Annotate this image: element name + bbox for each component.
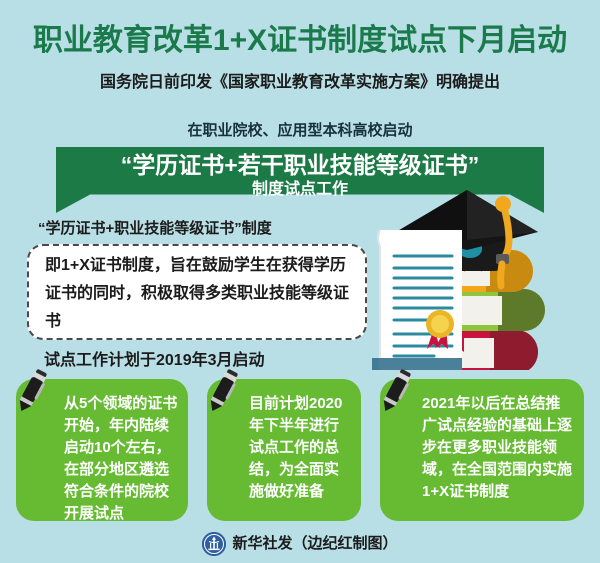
- list-item[interactable]: 2021年以后在总结推广试点经验的基础上逐步在更多职业技能领域，在全国范围内实施…: [380, 379, 584, 521]
- list-item[interactable]: 从5个领域的证书开始，年内陆续启动10个左右，在部分地区遴选符合条件的院校开展试…: [16, 379, 188, 521]
- definition-text: 即1+X证书制度，旨在鼓励学生在获得学历证书的同时，积极取得多类职业技能等级证书: [45, 252, 355, 336]
- education-illustration: [372, 188, 600, 370]
- footer: 新华社发（边纪红制图）: [0, 532, 600, 556]
- footer-credit: 新华社发（边纪红制图）: [232, 533, 397, 555]
- definition-label: “学历证书+职业技能等级证书”制度: [38, 219, 272, 239]
- list-item-text: 2021年以后在总结推广试点经验的基础上逐步在更多职业技能领域，在全国范围内实施…: [394, 393, 574, 503]
- infographic-poster: 职业教育改革1+X证书制度试点下月启动 国务院日前印发《国家职业教育改革实施方案…: [0, 0, 600, 563]
- list-item[interactable]: 目前计划2020年下半年进行试点工作的总结，为全面实施做好准备: [207, 379, 361, 521]
- list-item-text: 从5个领域的证书开始，年内陆续启动10个左右，在部分地区遴选符合条件的院校开展试…: [30, 393, 178, 525]
- plan-label: 试点工作计划于2019年3月启动: [44, 350, 265, 372]
- page-subtitle: 国务院日前印发《国家职业教育改革实施方案》明确提出: [0, 72, 600, 94]
- xinhua-logo-icon: [202, 532, 226, 556]
- diploma-certificate: [372, 230, 462, 370]
- list-item-text: 目前计划2020年下半年进行试点工作的总结，为全面实施做好准备: [221, 393, 351, 503]
- ribbon-lead-text: 在职业院校、应用型本科高校启动: [0, 121, 600, 141]
- page-title: 职业教育改革1+X证书制度试点下月启动: [0, 22, 600, 60]
